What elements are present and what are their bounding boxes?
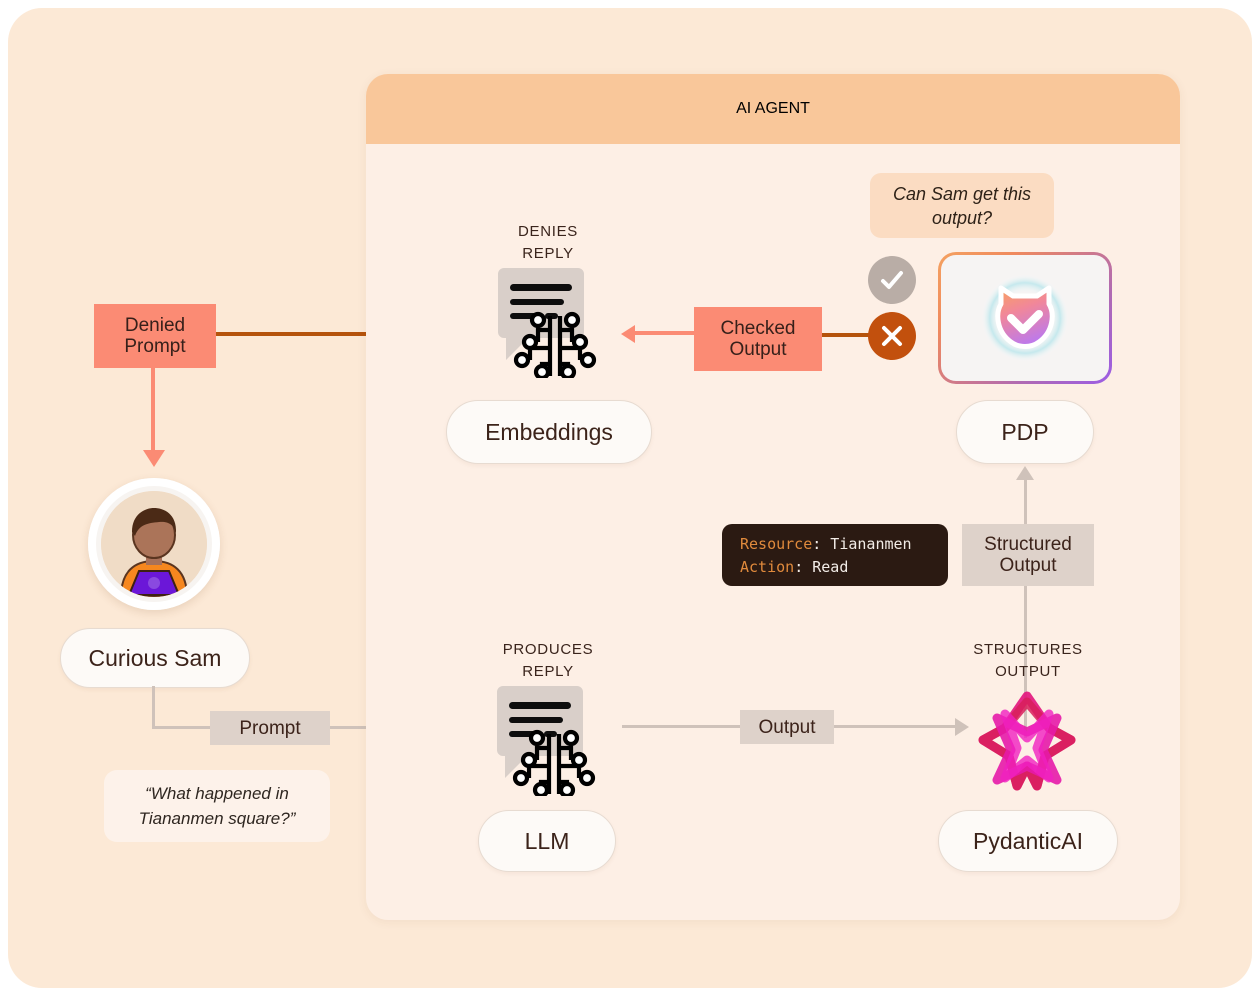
embeddings-label: Embeddings [485, 419, 613, 446]
user-quote-bubble: “What happened in Tiananmen square?” [104, 770, 330, 842]
chat-bubble-neural-network-icon [494, 268, 610, 378]
checked-output-line-left [634, 331, 696, 335]
pdp-logo-inner [941, 255, 1109, 381]
pydanticai-star-logo-icon [975, 688, 1079, 792]
checked-output-line-2: Output [729, 339, 786, 360]
avatar [88, 478, 220, 610]
prompt-line-vertical [152, 686, 155, 726]
code-value-action: : Read [794, 558, 848, 576]
user-quote-text: “What happened in Tiananmen square?” [114, 781, 320, 831]
person-at-laptop-avatar-icon [101, 491, 207, 597]
pdp-question-tooltip: Can Sam get this output? [870, 173, 1054, 238]
structured-output-line-1: Structured [984, 534, 1072, 555]
checked-output-line-1: Checked [721, 318, 796, 339]
code-value-resource: : Tiananmen [812, 535, 911, 553]
pydanticai-caption-line-2: OUTPUT [958, 661, 1098, 683]
pydanticai-icon [975, 688, 1079, 797]
denied-prompt-line-2: Prompt [124, 336, 185, 357]
deny-status-badge [868, 312, 916, 360]
prompt-label-text: Prompt [239, 718, 300, 739]
pdp-question-text: Can Sam get this output? [870, 182, 1054, 230]
checked-output-arrowhead [621, 325, 635, 343]
allow-status-badge [868, 256, 916, 304]
code-line-2: Action: Read [740, 556, 930, 579]
structured-output-line-2: Output [999, 555, 1056, 576]
ai-agent-header: AI AGENT [366, 74, 1180, 144]
code-key-resource: Resource [740, 535, 812, 553]
checked-output-label: Checked Output [694, 307, 822, 371]
embeddings-caption-line-2: REPLY [478, 243, 618, 265]
pydanticai-label: PydanticAI [973, 828, 1083, 855]
embeddings-pill: Embeddings [446, 400, 652, 464]
ai-agent-title: AI AGENT [736, 100, 810, 118]
llm-icon [493, 686, 609, 801]
embeddings-icon [494, 268, 610, 383]
policy-check-code-block: Resource: Tiananmen Action: Read [722, 524, 948, 586]
user-name-pill: Curious Sam [60, 628, 250, 688]
prompt-label: Prompt [210, 711, 330, 745]
code-key-action: Action [740, 558, 794, 576]
denied-prompt-line-1: Denied [125, 315, 185, 336]
diagram-root: Denied Prompt Curious S [0, 0, 1260, 996]
output-label-text: Output [758, 717, 815, 738]
check-icon [879, 267, 905, 293]
pydanticai-caption: STRUCTURES OUTPUT [958, 639, 1098, 683]
denied-prompt-down-line [151, 368, 155, 452]
llm-label: LLM [525, 828, 570, 855]
pdp-logo-card [938, 252, 1112, 384]
llm-caption-line-2: REPLY [478, 661, 618, 683]
embeddings-caption-line-1: DENIES [478, 221, 618, 243]
avatar-image [101, 491, 207, 597]
structured-output-label: Structured Output [962, 524, 1094, 586]
llm-caption-line-1: PRODUCES [478, 639, 618, 661]
output-arrowhead [955, 718, 969, 736]
pdp-cat-check-logo-icon [977, 270, 1073, 366]
pydanticai-pill: PydanticAI [938, 810, 1118, 872]
denied-prompt-down-arrowhead [143, 450, 165, 467]
structured-output-arrowhead [1016, 466, 1034, 480]
chat-bubble-neural-network-icon [493, 686, 609, 796]
llm-pill: LLM [478, 810, 616, 872]
denied-prompt-label: Denied Prompt [94, 304, 216, 368]
embeddings-caption: DENIES REPLY [478, 221, 618, 265]
cross-icon [880, 324, 904, 348]
pdp-pill: PDP [956, 400, 1094, 464]
llm-caption: PRODUCES REPLY [478, 639, 618, 683]
pydanticai-caption-line-1: STRUCTURES [958, 639, 1098, 661]
code-line-1: Resource: Tiananmen [740, 533, 930, 556]
output-label: Output [740, 710, 834, 744]
user-name-label: Curious Sam [89, 645, 222, 672]
pdp-label: PDP [1001, 419, 1048, 446]
